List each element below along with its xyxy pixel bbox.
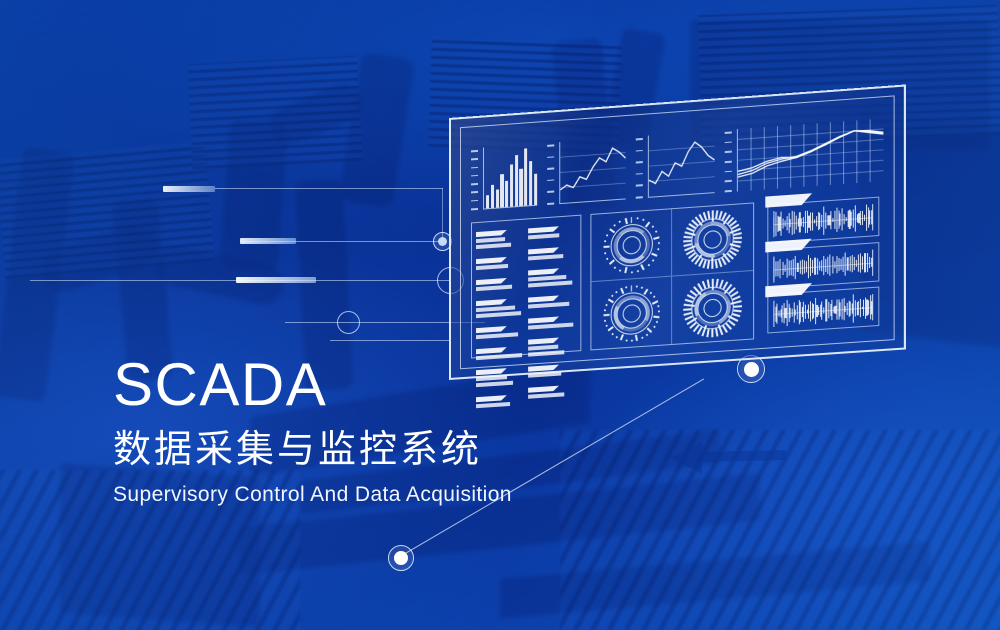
list-item-line <box>528 350 564 356</box>
list-item-line <box>476 332 518 339</box>
waveform-channel-2-signal <box>773 247 873 284</box>
axis-tick <box>636 138 643 140</box>
gauge-top-right[interactable] <box>683 208 742 270</box>
axis-tick <box>471 166 478 168</box>
waveform-label-tab-1 <box>765 193 812 207</box>
list-item[interactable] <box>476 251 524 272</box>
list-item[interactable] <box>528 358 576 379</box>
list-item[interactable] <box>528 310 576 331</box>
bar <box>505 180 508 207</box>
axis-tick <box>636 150 643 152</box>
subtitle: Supervisory Control And Data Acquisition <box>113 483 512 507</box>
hud-node-lower-left <box>337 311 360 334</box>
axis-tick <box>471 191 478 193</box>
list-item-line <box>528 323 573 330</box>
title-chinese: 数据采集与监控系统 <box>113 429 512 471</box>
gauge-top-right[interactable] <box>672 203 753 276</box>
gauge-top-left[interactable] <box>591 209 672 282</box>
bar <box>515 155 518 207</box>
axis-tick <box>636 185 643 187</box>
axis-tick <box>547 191 554 193</box>
page-title: SCADA <box>113 355 512 415</box>
axis-tick <box>471 150 478 152</box>
poster-canvas: SCADA 数据采集与监控系统 Supervisory Control And … <box>0 0 1000 630</box>
list-item-line <box>476 243 511 249</box>
lower-panel-row <box>471 193 883 358</box>
list-item-tab <box>528 268 559 275</box>
list-item-line <box>476 264 508 270</box>
gauge-top-left[interactable] <box>602 214 660 276</box>
bar <box>496 190 499 208</box>
chart-bar[interactable] <box>471 140 537 217</box>
waveform-panel[interactable] <box>763 193 883 339</box>
list-item-tab <box>528 386 559 393</box>
trend-grid-y-ticks <box>725 131 735 190</box>
waveform-channel-1-signal <box>773 202 873 239</box>
axis-tick <box>471 208 478 210</box>
gauge-bottom-left[interactable] <box>602 282 660 344</box>
bar <box>500 174 503 207</box>
connector-bar-middle <box>240 238 296 244</box>
status-list-column-a <box>476 224 524 353</box>
waveform-channel-1[interactable] <box>767 197 879 244</box>
bar <box>510 165 513 207</box>
line-2-y-ticks <box>636 138 646 197</box>
axis-tick <box>547 179 554 181</box>
list-item-line <box>528 392 565 398</box>
list-item-line <box>528 280 572 287</box>
connector-line-screen-left <box>330 340 450 341</box>
gauge-bottom-right[interactable] <box>683 276 742 338</box>
list-item[interactable] <box>528 289 576 310</box>
list-item-tab <box>528 247 559 254</box>
list-item-line <box>476 285 512 291</box>
list-item-line <box>528 345 558 351</box>
list-item-tab <box>476 326 507 333</box>
axis-tick <box>471 158 478 160</box>
screen-content <box>471 106 883 358</box>
list-item-tab <box>528 295 559 302</box>
bar <box>491 185 494 208</box>
list-item[interactable] <box>476 320 524 341</box>
gauge-panel[interactable] <box>590 202 754 350</box>
list-item-tab <box>476 230 507 237</box>
axis-tick <box>725 170 732 172</box>
list-item[interactable] <box>528 241 576 262</box>
waveform-channel-2[interactable] <box>767 242 879 289</box>
title-block: SCADA 数据采集与监控系统 Supervisory Control And … <box>113 355 512 507</box>
axis-tick <box>471 175 478 177</box>
axis-tick <box>725 131 732 133</box>
list-item-tab <box>476 299 507 306</box>
list-item-line <box>528 371 561 377</box>
list-item[interactable] <box>476 293 524 320</box>
chart-trend-grid[interactable] <box>725 114 884 198</box>
trend-grid-plot <box>737 118 884 191</box>
hud-node-bottom <box>394 551 408 565</box>
list-item-tab <box>528 365 559 372</box>
list-item-line <box>528 302 569 309</box>
bar <box>524 148 527 206</box>
list-item-tab <box>476 347 507 354</box>
connector-bar-lower <box>236 277 316 283</box>
hud-node-screen-corner <box>744 362 759 377</box>
waveform-channel-3-signal <box>773 292 873 329</box>
axis-tick <box>725 141 732 143</box>
scada-dashboard-screen[interactable] <box>449 84 906 380</box>
axis-tick <box>471 200 478 202</box>
chart-line-1[interactable] <box>547 133 625 211</box>
waveform-channel-3[interactable] <box>767 287 879 334</box>
list-item[interactable] <box>528 331 576 358</box>
list-item[interactable] <box>528 262 576 289</box>
line-1-plot <box>559 137 625 204</box>
axis-tick <box>725 180 732 182</box>
axis-tick <box>636 161 643 163</box>
bar <box>529 161 532 206</box>
list-item-line <box>476 311 521 318</box>
line-1-y-ticks <box>547 144 557 203</box>
list-item-tab <box>528 316 559 323</box>
status-list-panel[interactable] <box>471 215 581 359</box>
bar <box>486 195 489 208</box>
list-item-tab <box>528 226 559 233</box>
axis-tick <box>547 203 554 205</box>
axis-tick <box>725 190 732 192</box>
chart-svg <box>649 131 715 197</box>
axis-tick <box>636 173 643 175</box>
chart-svg <box>560 137 625 203</box>
bar <box>519 169 522 206</box>
hud-node-top-right-core <box>438 237 447 246</box>
axis-tick <box>547 144 554 146</box>
list-item-tab <box>476 257 507 264</box>
axis-tick <box>636 196 643 198</box>
connector-bar-top <box>163 186 215 192</box>
list-item-tab <box>528 338 559 345</box>
axis-tick <box>547 168 554 170</box>
line-2-plot <box>648 131 715 198</box>
status-list-column-b <box>528 220 576 350</box>
list-item[interactable] <box>476 272 524 293</box>
gauge-bottom-left[interactable] <box>591 277 672 350</box>
bar-chart-y-ticks <box>471 150 481 209</box>
bar-chart-bars <box>486 144 537 209</box>
axis-tick <box>725 151 732 153</box>
chart-line-2[interactable] <box>636 127 715 205</box>
list-item[interactable] <box>528 220 576 241</box>
list-item-line <box>476 237 505 243</box>
list-item-line <box>528 233 559 239</box>
list-item-tab <box>476 278 507 285</box>
axis-tick <box>725 161 732 163</box>
bar <box>534 174 537 205</box>
chart-svg <box>738 118 884 191</box>
axis-tick <box>547 156 554 158</box>
list-item[interactable] <box>476 224 524 251</box>
list-item-line <box>528 254 563 260</box>
axis-tick <box>471 183 478 185</box>
connector-line-top <box>215 188 443 189</box>
gauge-bottom-right[interactable] <box>672 271 753 344</box>
list-item[interactable] <box>528 380 576 401</box>
